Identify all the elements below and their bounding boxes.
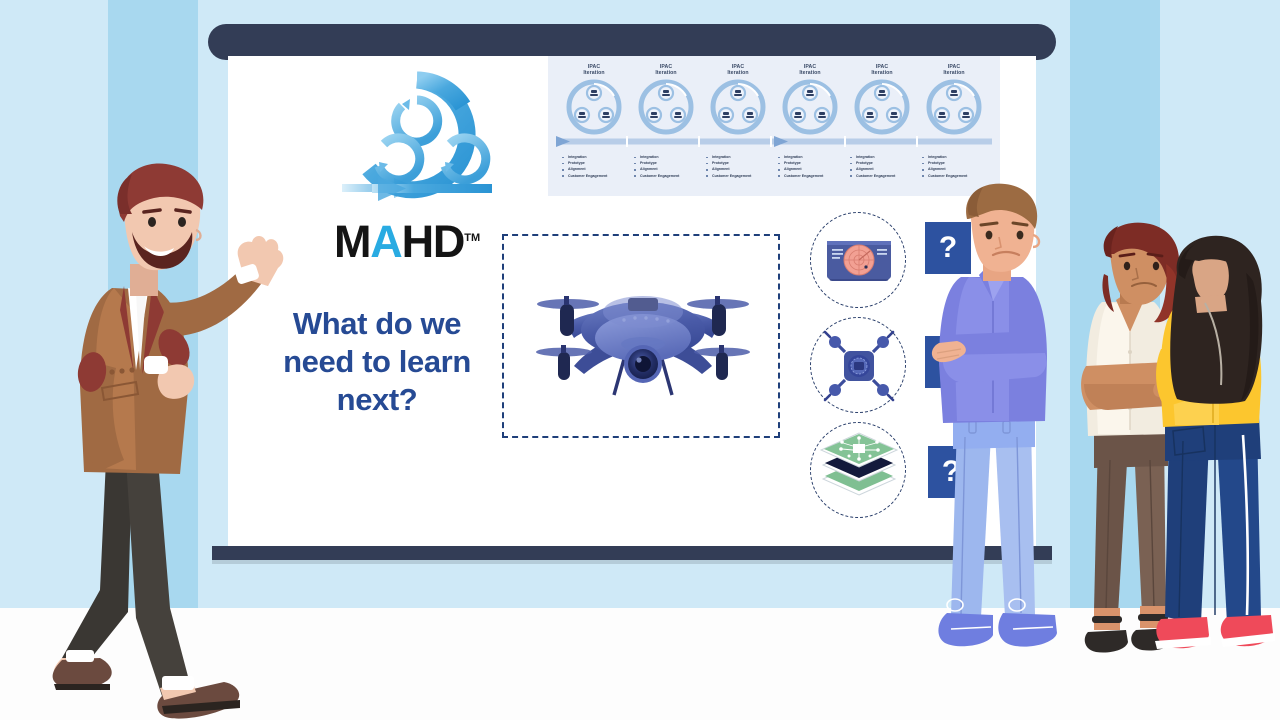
audience-woman-right xyxy=(1155,245,1280,720)
drone-highlight-box xyxy=(502,234,780,438)
ipac-iteration-title: IPAC Iteration xyxy=(630,62,702,76)
ipac-bullet-list: IntegrationPrototypeAlignmentCustomer En… xyxy=(850,154,918,179)
ipac-bullet-item: Customer Engagement xyxy=(850,173,918,179)
ipac-iteration-title: IPAC Iteration xyxy=(846,62,918,76)
ipac-bullet-list: IntegrationPrototypeAlignmentCustomer En… xyxy=(922,154,990,179)
ipac-cycle-icon xyxy=(924,78,984,136)
three-arrow-cycle-logo-icon xyxy=(332,66,502,216)
ipac-bullet-item: Customer Engagement xyxy=(706,173,774,179)
ipac-iteration-1: IPAC IterationIntegrationPrototypeAlignm… xyxy=(558,62,630,190)
ipac-iteration-5: IPAC IterationIntegrationPrototypeAlignm… xyxy=(846,62,918,190)
audience-man xyxy=(935,185,1065,685)
whiteboard-frame-shadow xyxy=(212,560,1052,564)
ipac-cycle-icon xyxy=(780,78,840,136)
ipac-iteration-track: IPAC IterationIntegrationPrototypeAlignm… xyxy=(556,62,992,190)
tech-circle-drone xyxy=(810,317,906,413)
ipac-bullet-item: Customer Engagement xyxy=(562,173,630,179)
presenter xyxy=(40,160,300,720)
quadcopter-drone-illustration xyxy=(522,260,764,420)
ipac-cycle-icon xyxy=(852,78,912,136)
presentation-scene: IPAC IterationIntegrationPrototypeAlignm… xyxy=(0,0,1280,720)
ipac-progress-arrow xyxy=(556,136,992,147)
ipac-bullet-list: IntegrationPrototypeAlignmentCustomer En… xyxy=(778,154,846,179)
logo-letter-d: D xyxy=(433,216,464,267)
ipac-iteration-6: IPAC IterationIntegrationPrototypeAlignm… xyxy=(918,62,990,190)
whiteboard-bottom-frame xyxy=(212,546,1052,560)
logo-letter-h: H xyxy=(402,216,433,267)
mahd-logo: MAHDTM xyxy=(308,66,518,266)
ipac-iteration-4: IPAC IterationIntegrationPrototypeAlignm… xyxy=(774,62,846,190)
tech-circle-radar xyxy=(810,212,906,308)
ipac-bullet-list: IntegrationPrototypeAlignmentCustomer En… xyxy=(706,154,774,179)
ipac-iteration-title: IPAC Iteration xyxy=(918,62,990,76)
ipac-roadmap-panel: IPAC IterationIntegrationPrototypeAlignm… xyxy=(548,56,1000,196)
radar-display-icon xyxy=(811,213,907,309)
ipac-iteration-title: IPAC Iteration xyxy=(774,62,846,76)
ipac-bullet-list: IntegrationPrototypeAlignmentCustomer En… xyxy=(634,154,702,179)
ipac-bullet-item: Customer Engagement xyxy=(634,173,702,179)
ipac-bullet-list: IntegrationPrototypeAlignmentCustomer En… xyxy=(562,154,630,179)
whiteboard-top-frame xyxy=(208,24,1056,60)
logo-letter-a: A xyxy=(370,216,401,267)
ipac-bullet-item: Customer Engagement xyxy=(922,173,990,179)
ipac-cycle-icon xyxy=(636,78,696,136)
logo-trademark: TM xyxy=(464,232,480,244)
ipac-bullet-item: Customer Engagement xyxy=(778,173,846,179)
pcb-board-icon xyxy=(811,423,907,519)
ipac-iteration-title: IPAC Iteration xyxy=(702,62,774,76)
mahd-wordmark: MAHDTM xyxy=(334,214,514,262)
ipac-cycle-icon xyxy=(564,78,624,136)
logo-letter-m: M xyxy=(334,216,370,267)
ipac-cycle-icon xyxy=(708,78,768,136)
tech-circle-pcb xyxy=(810,422,906,518)
drone-topview-icon xyxy=(811,318,907,414)
ipac-iteration-3: IPAC IterationIntegrationPrototypeAlignm… xyxy=(702,62,774,190)
ipac-iteration-title: IPAC Iteration xyxy=(558,62,630,76)
ipac-iteration-2: IPAC IterationIntegrationPrototypeAlignm… xyxy=(630,62,702,190)
